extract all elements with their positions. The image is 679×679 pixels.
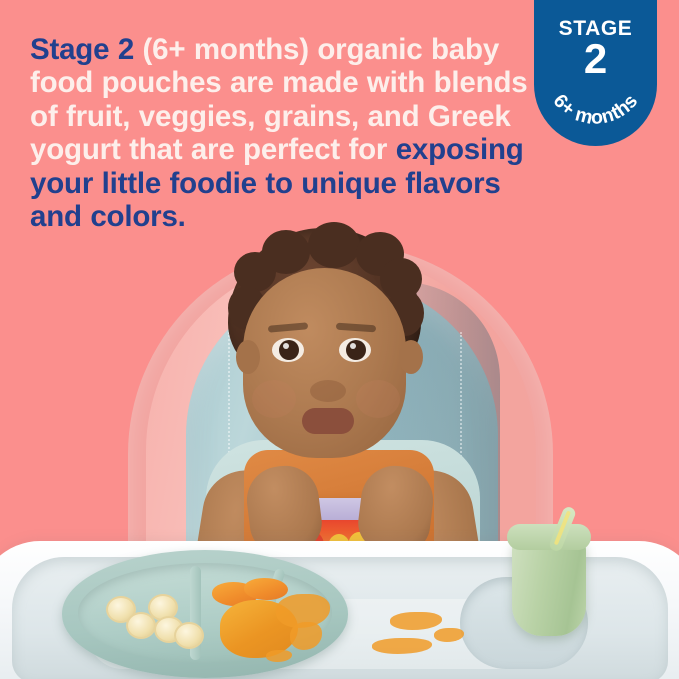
peach-slice (244, 578, 288, 600)
divided-plate (62, 550, 348, 678)
stage-badge: STAGE 2 6+ months (534, 0, 657, 146)
baby-eye-right (339, 338, 371, 362)
baby-cheek-right (356, 380, 400, 418)
puree-smear (290, 622, 322, 650)
baby-eye-left (272, 338, 304, 362)
hero-photo: ORGANIC BABY FOOD peach, banana + aprico… (0, 212, 679, 679)
stage-badge-age-arc: 6+ months (534, 0, 657, 146)
stage-2-promo-poster: Stage 2 (6+ months) organic baby food po… (0, 0, 679, 679)
stage-badge-age-label: 6+ months (549, 90, 643, 129)
stage-badge-inner: STAGE 2 6+ months (534, 0, 657, 146)
baby-mouth (302, 408, 354, 434)
banana-slice (174, 622, 204, 649)
baby-ear-right (399, 340, 423, 374)
baby-nose (310, 380, 346, 402)
sippy-cup (512, 536, 586, 636)
headline-copy: Stage 2 (6+ months) organic baby food po… (30, 33, 535, 234)
baby-ear-left (236, 340, 260, 374)
baby-cheek-left (252, 380, 296, 418)
headline-segment-stage: Stage 2 (30, 33, 143, 66)
